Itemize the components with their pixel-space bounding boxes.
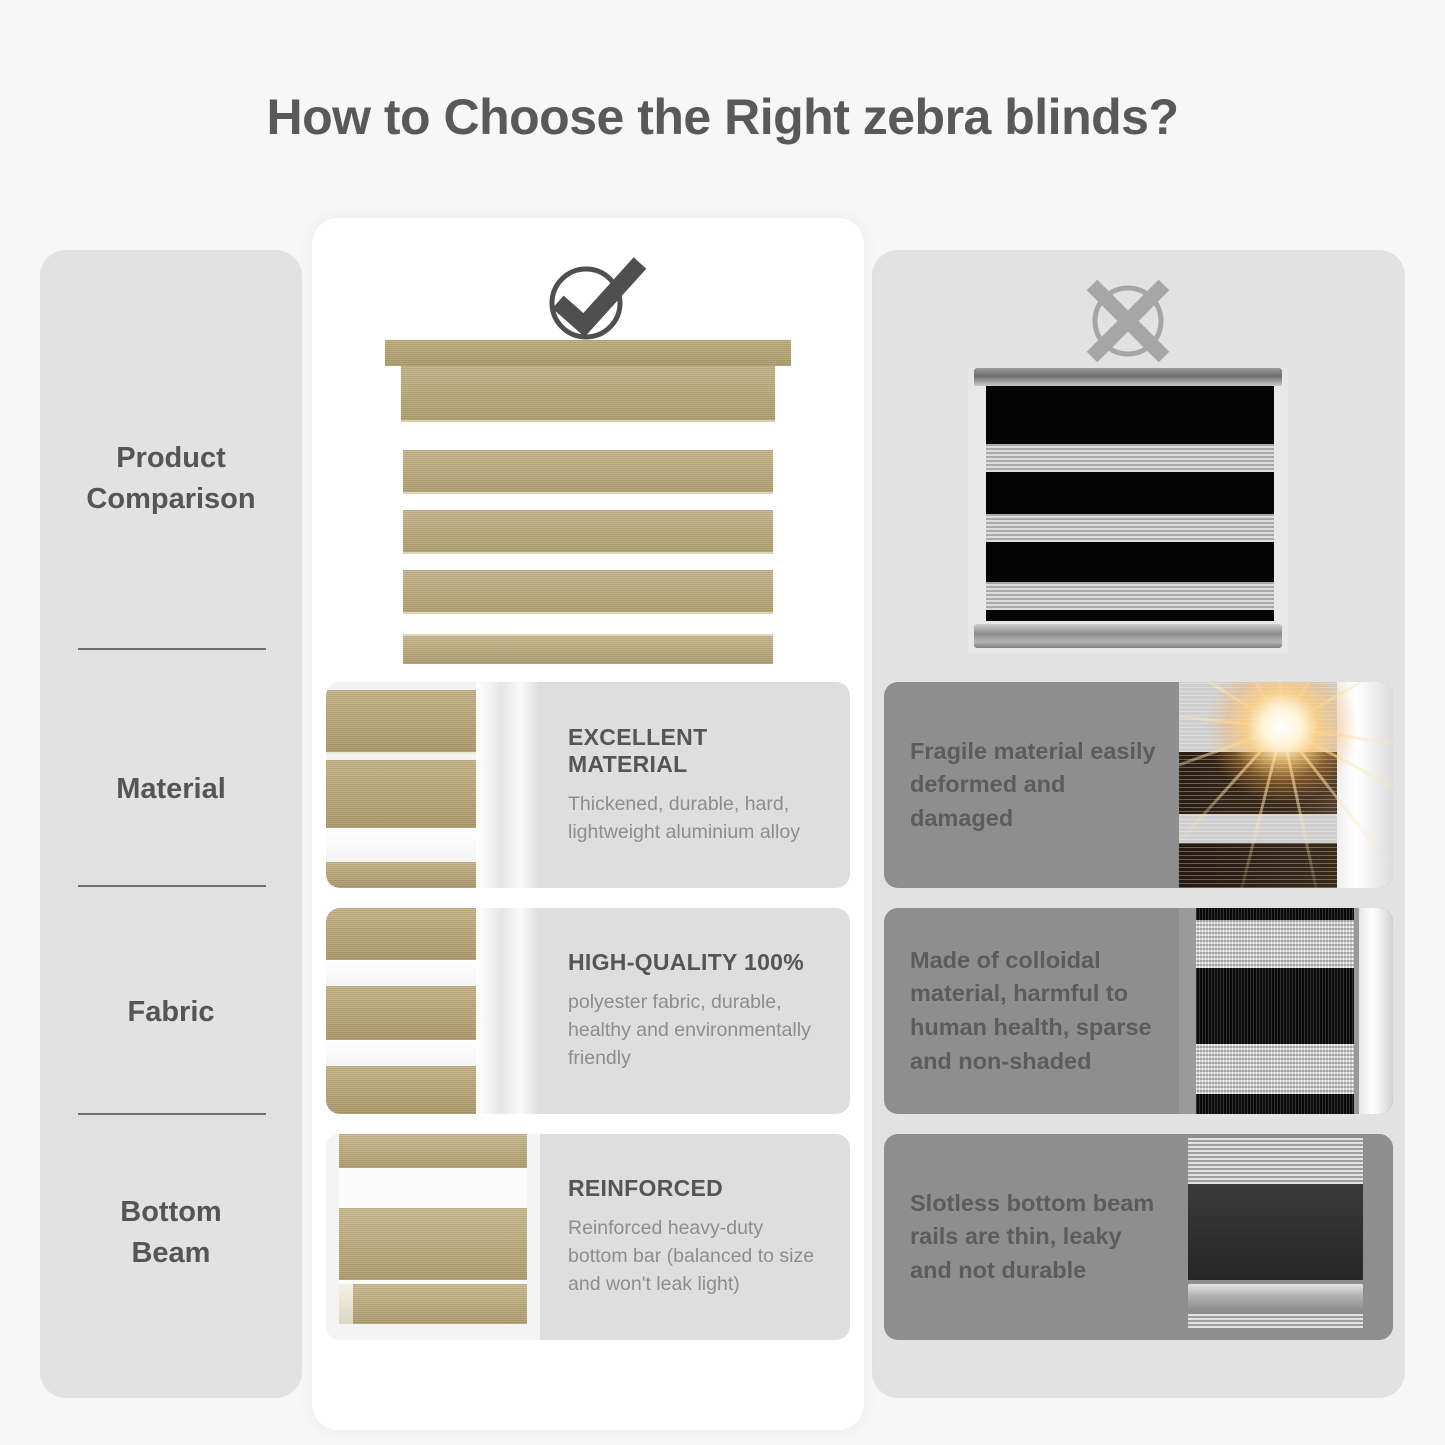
sidebar-item-fabric: Fabric: [40, 978, 302, 1048]
sidebar-label: Product Comparison: [86, 438, 255, 520]
cross-circle-icon: [1080, 275, 1176, 363]
bad-bottom-beam-card: Slotless bottom beam rails are thin, lea…: [884, 1134, 1393, 1340]
sidebar-item-product-comparison: Product Comparison: [40, 424, 302, 534]
sheer-stripe: [986, 582, 1274, 610]
wood-blind-in-white-window-frame-image: [326, 682, 540, 888]
sidebar-divider: [78, 885, 266, 887]
bad-fabric-card: Made of colloidal material, harmful to h…: [884, 908, 1393, 1114]
bad-fabric-text: Made of colloidal material, harmful to h…: [910, 944, 1157, 1078]
bad-bottom-beam-copy: Slotless bottom beam rails are thin, lea…: [884, 1134, 1179, 1340]
bad-material-card: Fragile material easily deformed and dam…: [884, 682, 1393, 888]
black-zebra-blind-image: [968, 368, 1288, 653]
bad-fabric-copy: Made of colloidal material, harmful to h…: [884, 908, 1179, 1114]
bad-material-text: Fragile material easily deformed and dam…: [910, 735, 1157, 836]
good-material-copy: EXCELLENT MATERIAL Thickened, durable, h…: [540, 682, 850, 888]
sidebar-label: Bottom Beam: [120, 1192, 221, 1274]
good-bottom-beam-body: Reinforced heavy-duty bottom bar (balanc…: [568, 1215, 828, 1298]
blind-band: [403, 450, 773, 494]
good-fabric-heading: HIGH-QUALITY 100%: [568, 949, 828, 976]
good-bottom-beam-copy: REINFORCED Reinforced heavy-duty bottom …: [540, 1134, 850, 1340]
blind-band: [403, 570, 773, 614]
blind-headrail-cap: [385, 340, 791, 366]
good-material-heading: EXCELLENT MATERIAL: [568, 724, 828, 778]
good-fabric-copy: HIGH-QUALITY 100% polyester fabric, dura…: [540, 908, 850, 1114]
sunlight-leaking-through-window-blind-image: [1179, 682, 1393, 888]
thin-metal-bottom-rail-image: [1179, 1134, 1393, 1340]
sheer-stripe: [986, 514, 1274, 542]
sidebar-item-bottom-beam: Bottom Beam: [40, 1178, 302, 1288]
blind-headrail: [401, 366, 775, 422]
good-material-body: Thickened, durable, hard, lightweight al…: [568, 791, 828, 846]
good-material-card: EXCELLENT MATERIAL Thickened, durable, h…: [326, 682, 850, 888]
sheer-stripe: [986, 444, 1274, 472]
sidebar-divider: [78, 648, 266, 650]
blind-band: [403, 510, 773, 554]
sidebar-item-material: Material: [40, 755, 302, 825]
blind-bottom-rail: [974, 624, 1282, 648]
blind-top-rail: [974, 368, 1282, 386]
sidebar-label: Material: [116, 769, 226, 810]
blind-fabric: [986, 386, 1274, 621]
page-title: How to Choose the Right zebra blinds?: [0, 88, 1445, 146]
tan-zebra-blind-image: [385, 340, 791, 665]
good-fabric-body: polyester fabric, durable, healthy and e…: [568, 989, 828, 1072]
black-white-striped-sheer-fabric-image: [1179, 908, 1393, 1114]
bad-material-copy: Fragile material easily deformed and dam…: [884, 682, 1179, 888]
wood-blind-fabric-closeup-image: [326, 908, 540, 1114]
good-bottom-beam-heading: REINFORCED: [568, 1175, 828, 1202]
bad-bottom-beam-text: Slotless bottom beam rails are thin, lea…: [910, 1187, 1157, 1288]
sidebar-divider: [78, 1113, 266, 1115]
sidebar-label: Fabric: [127, 992, 214, 1033]
blind-bottom-rail: [403, 634, 773, 664]
check-circle-icon: [540, 255, 650, 345]
good-bottom-beam-card: REINFORCED Reinforced heavy-duty bottom …: [326, 1134, 850, 1340]
good-fabric-card: HIGH-QUALITY 100% polyester fabric, dura…: [326, 908, 850, 1114]
reinforced-tan-bottom-bar-image: [326, 1134, 540, 1340]
